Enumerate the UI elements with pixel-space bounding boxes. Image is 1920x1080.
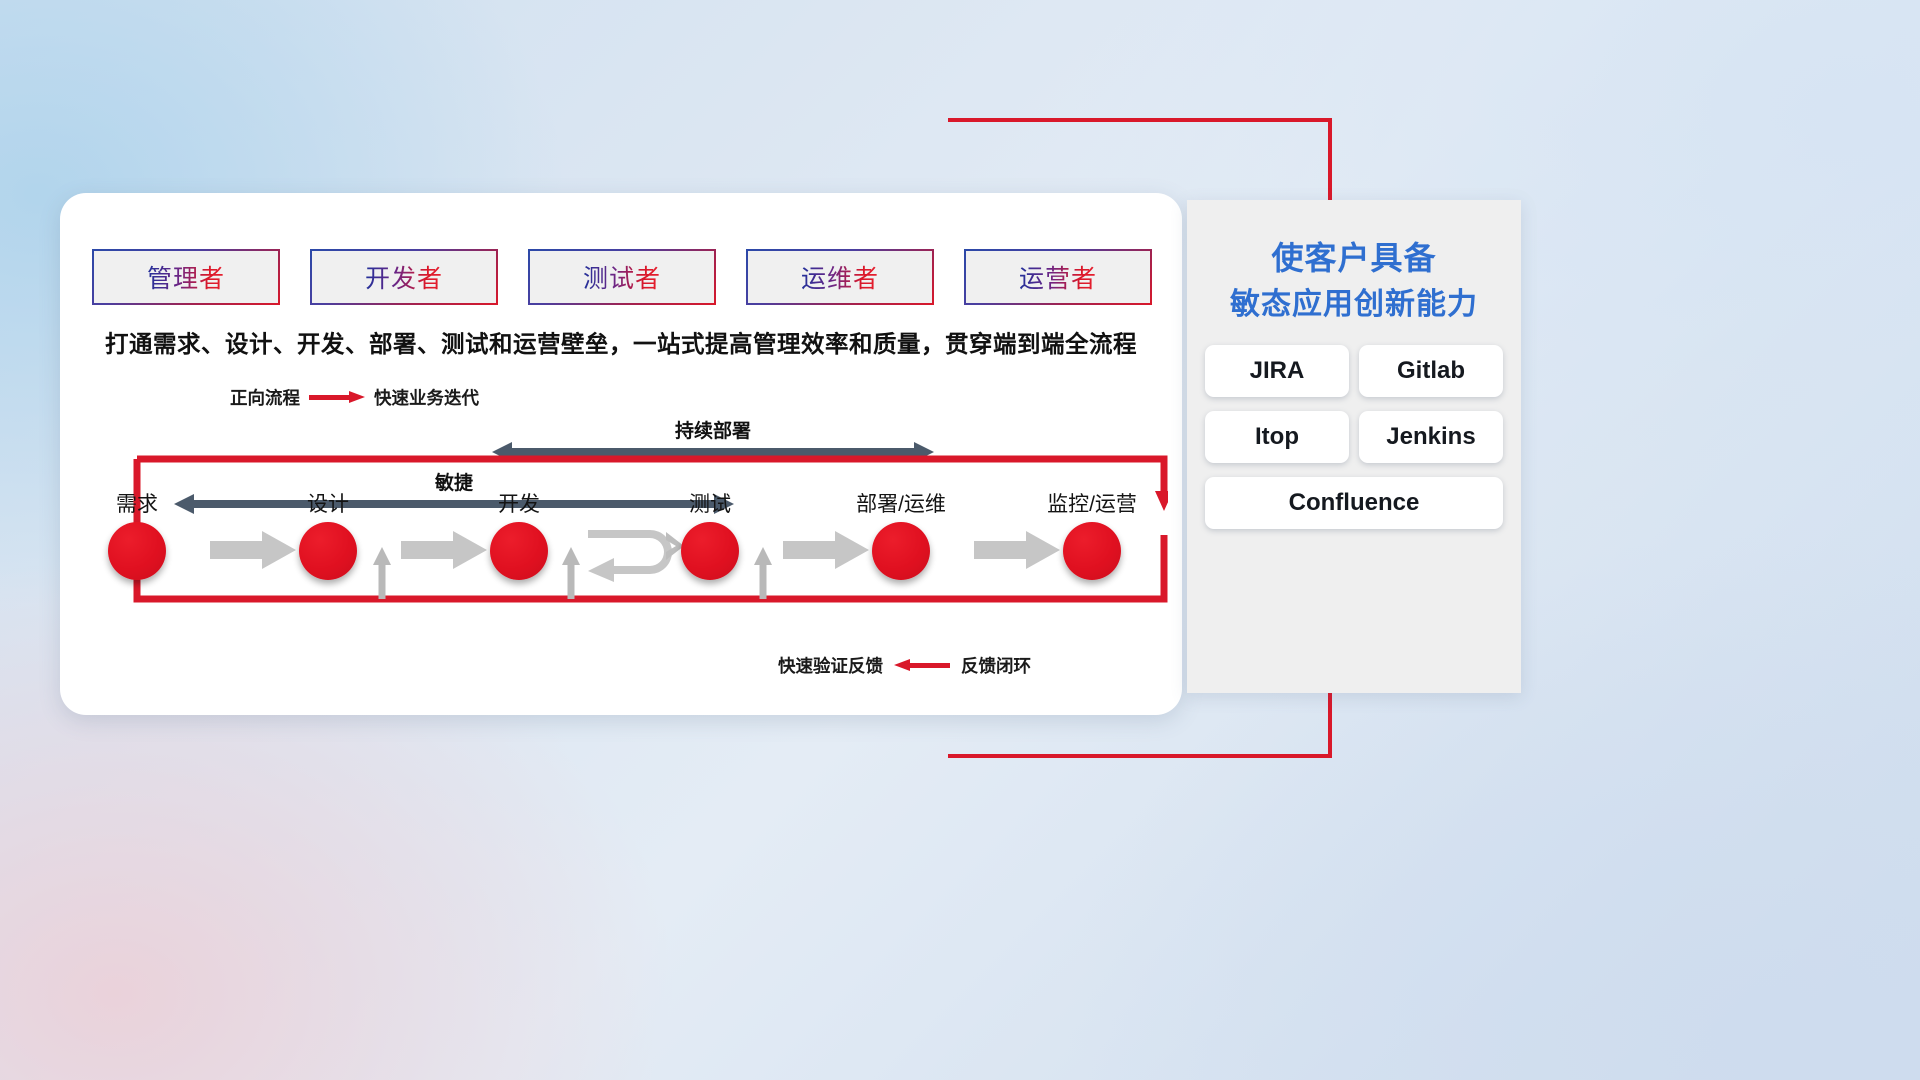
span-arrow-label: 持续部署 — [492, 416, 934, 443]
pipeline-stage-requirements[interactable]: 需求 — [72, 488, 202, 580]
tool-chip-jenkins[interactable]: Jenkins — [1359, 411, 1503, 463]
pipeline-stage-design[interactable]: 设计 — [263, 488, 393, 580]
stage-dot-icon — [1063, 522, 1121, 580]
stage-label: 部署/运维 — [836, 488, 966, 518]
tool-chip-gitlab[interactable]: Gitlab — [1359, 345, 1503, 397]
stage-dot-icon — [299, 522, 357, 580]
stage-dot-icon — [490, 522, 548, 580]
pipeline-row: 需求 设计 开发 测试 — [60, 488, 1182, 608]
toolchain-panel: 使客户具备 敏态应用创新能力 JIRA Gitlab Itop Jenkins … — [1187, 200, 1521, 693]
stage-label: 监控/运营 — [1027, 488, 1157, 518]
role-box-row: 管理者 开发者 测试者 运维者 运营者 — [92, 249, 1152, 305]
pipeline-stage-deploy-ops[interactable]: 部署/运维 — [836, 488, 966, 580]
toolchain-title-line2: 敏态应用创新能力 — [1187, 282, 1521, 327]
pipeline-stage-monitor-operate[interactable]: 监控/运营 — [1027, 488, 1157, 580]
legend-forward-left-label: 正向流程 — [230, 385, 300, 410]
pipeline-stage-testing[interactable]: 测试 — [645, 488, 775, 580]
arrow-right-red-icon — [309, 391, 365, 404]
stage-label: 设计 — [263, 488, 393, 518]
slide-canvas: 管理者 开发者 测试者 运维者 运营者 打通需求、设计、开发、部署、测试和运营壁… — [0, 0, 1920, 1080]
tool-chip-jira[interactable]: JIRA — [1205, 345, 1349, 397]
toolchain-title-line1: 使客户具备 — [1187, 234, 1521, 282]
role-label: 运维者 — [801, 259, 879, 295]
tool-chip-confluence[interactable]: Confluence — [1205, 477, 1503, 529]
stage-label: 测试 — [645, 488, 775, 518]
role-box-operations[interactable]: 运维者 — [746, 249, 934, 305]
role-label: 测试者 — [583, 259, 661, 295]
stage-label: 需求 — [72, 488, 202, 518]
legend-feedback-loop: 快速验证反馈 反馈闭环 — [778, 653, 1031, 678]
role-label: 管理者 — [147, 259, 225, 295]
role-label: 开发者 — [365, 259, 443, 295]
stage-dot-icon — [108, 522, 166, 580]
legend-feedback-right-label: 反馈闭环 — [961, 653, 1031, 678]
toolchain-panel-title: 使客户具备 敏态应用创新能力 — [1187, 234, 1521, 327]
legend-forward-flow: 正向流程 快速业务迭代 — [230, 385, 479, 410]
toolchain-chip-list: JIRA Gitlab Itop Jenkins Confluence — [1187, 345, 1521, 529]
role-box-developer[interactable]: 开发者 — [310, 249, 498, 305]
stage-dot-icon — [681, 522, 739, 580]
stage-label: 开发 — [454, 488, 584, 518]
tool-chip-itop[interactable]: Itop — [1205, 411, 1349, 463]
description-text: 打通需求、设计、开发、部署、测试和运营壁垒，一站式提高管理效率和质量，贯穿端到端… — [60, 325, 1182, 359]
stage-dot-icon — [872, 522, 930, 580]
legend-feedback-left-label: 快速验证反馈 — [778, 653, 883, 678]
arrow-left-red-icon — [894, 659, 950, 672]
devops-main-card: 管理者 开发者 测试者 运维者 运营者 打通需求、设计、开发、部署、测试和运营壁… — [60, 193, 1182, 715]
role-label: 运营者 — [1019, 259, 1097, 295]
role-box-business-ops[interactable]: 运营者 — [964, 249, 1152, 305]
role-box-manager[interactable]: 管理者 — [92, 249, 280, 305]
pipeline-stage-development[interactable]: 开发 — [454, 488, 584, 580]
role-box-tester[interactable]: 测试者 — [528, 249, 716, 305]
legend-forward-right-label: 快速业务迭代 — [374, 385, 479, 410]
